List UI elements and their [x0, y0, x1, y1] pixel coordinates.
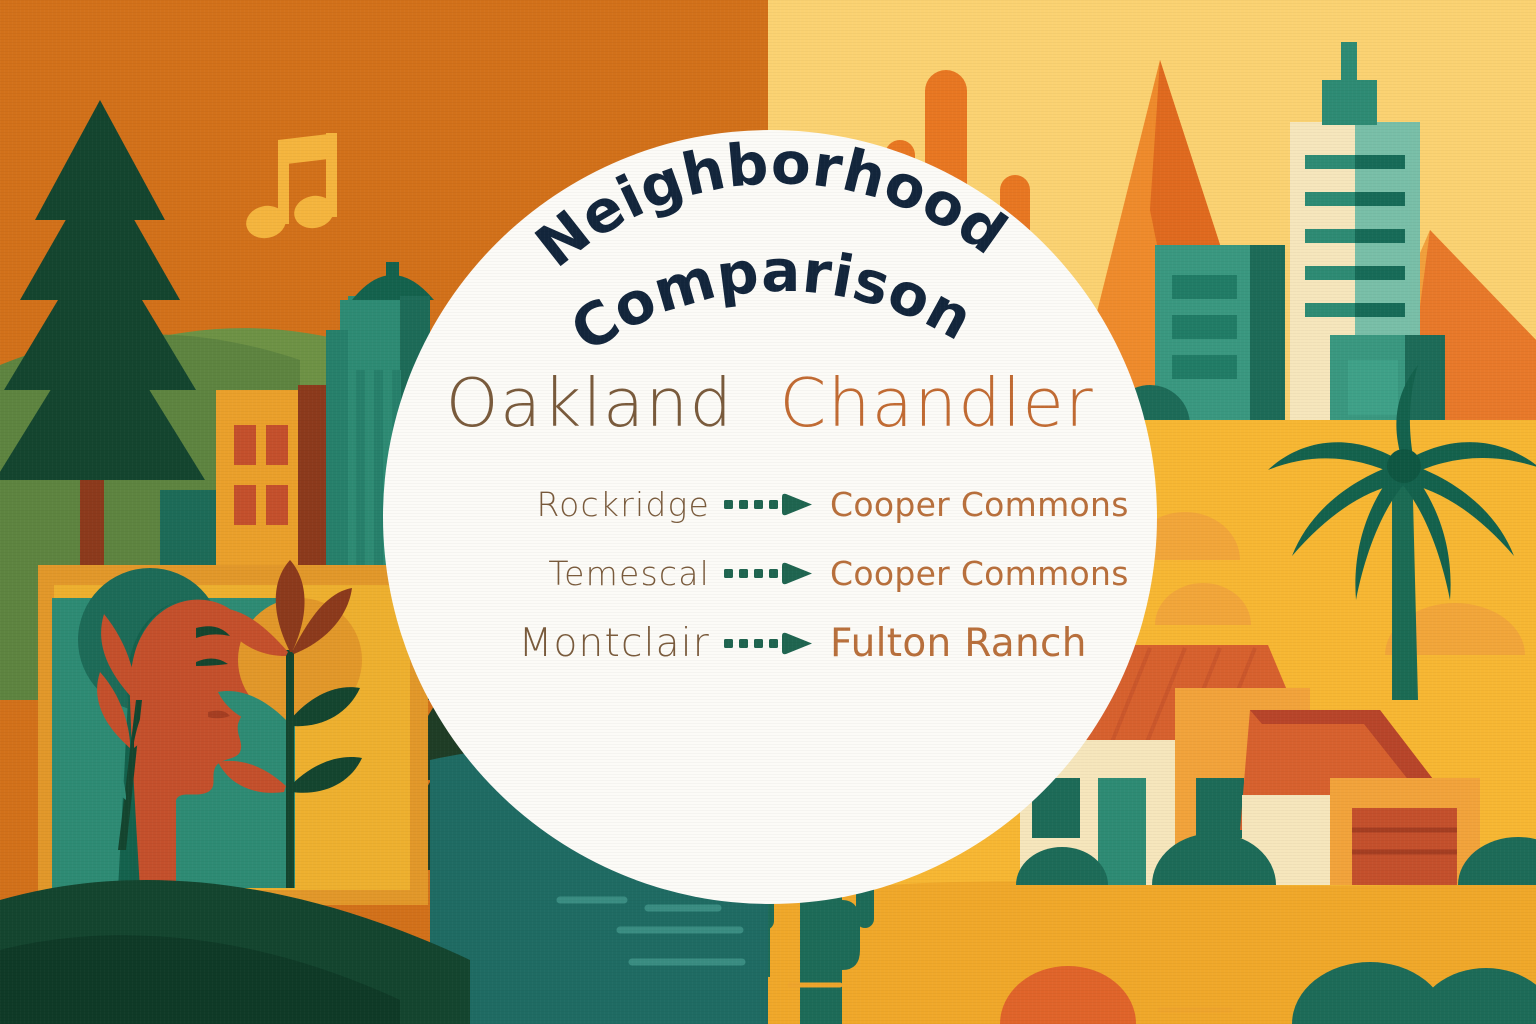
low-building-icon: [1330, 335, 1445, 425]
comparison-row: Rockridge Cooper Commons: [383, 485, 1157, 524]
dotted-arrow-icon: [722, 492, 818, 518]
garage-icon: [1352, 808, 1457, 885]
neighborhood-left: Montclair: [383, 621, 722, 666]
city-name-left: Oakland: [446, 370, 734, 437]
dotted-arrow-icon: [722, 561, 818, 587]
medallion-content: Neighborhood Comparison Oakland Chandler…: [383, 130, 1157, 904]
title-line-2: Comparison: [559, 237, 984, 365]
mural-wall-icon: [38, 560, 428, 905]
comparison-list: Rockridge Cooper Commons Tem: [383, 485, 1157, 666]
neighborhood-right: Cooper Commons: [818, 554, 1157, 593]
neighborhood-left: Temescal: [383, 554, 722, 593]
comparison-row: Temescal Cooper Commons: [383, 554, 1157, 593]
house-window-2: [1196, 778, 1244, 838]
city-name-right: Chandler: [780, 370, 1095, 437]
neighborhood-right: Cooper Commons: [818, 485, 1157, 524]
city-headline-row: Oakland Chandler: [383, 370, 1157, 437]
dotted-arrow-icon: [722, 631, 818, 657]
neighborhood-left: Rockridge: [383, 485, 722, 524]
comparison-row: Montclair Fulton Ranch: [383, 621, 1157, 666]
infographic-canvas: Neighborhood Comparison Oakland Chandler…: [0, 0, 1536, 1024]
neighborhood-right: Fulton Ranch: [818, 621, 1157, 666]
